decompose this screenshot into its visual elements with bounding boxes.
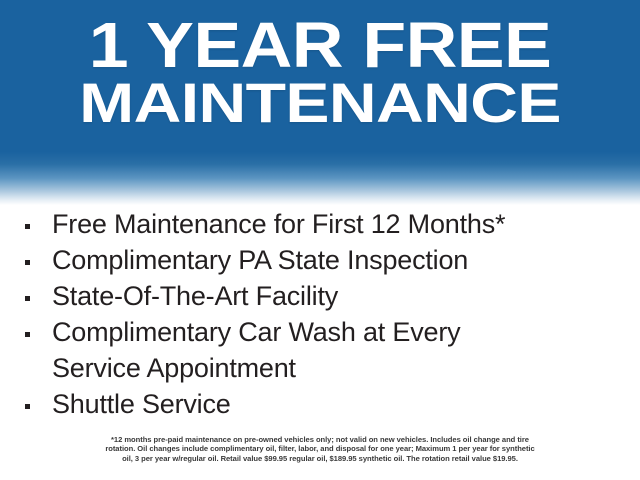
list-item: Free Maintenance for First 12 Months* [0, 206, 640, 242]
list-item-label: Complimentary Car Wash at Every [52, 314, 630, 350]
list-item-label: Complimentary PA State Inspection [52, 242, 630, 278]
maintenance-promo-ad: 1 YEAR FREE MAINTENANCE Free Maintenance… [0, 0, 640, 480]
bullet-square-icon [25, 224, 30, 229]
bullet-square-icon [25, 404, 30, 409]
headline: 1 YEAR FREE MAINTENANCE [0, 0, 640, 128]
list-item-label: Free Maintenance for First 12 Months* [52, 206, 630, 242]
feature-list: Free Maintenance for First 12 Months* Co… [0, 206, 640, 422]
headline-line-2: MAINTENANCE [0, 77, 640, 129]
bullet-square-icon [25, 260, 30, 265]
disclaimer-line-3: oil, 3 per year w/regular oil. Retail va… [45, 454, 595, 463]
headline-line-1: 1 YEAR FREE [0, 16, 640, 75]
bullet-square-icon [25, 332, 30, 337]
list-item: State-Of-The-Art Facility [0, 278, 640, 314]
headline-banner: 1 YEAR FREE MAINTENANCE [0, 0, 640, 205]
disclaimer: *12 months pre-paid maintenance on pre-o… [45, 435, 595, 463]
list-item-label: Shuttle Service [52, 386, 630, 422]
list-item: Complimentary PA State Inspection [0, 242, 640, 278]
bullet-square-icon [25, 296, 30, 301]
list-item: Complimentary Car Wash at Every Service … [0, 314, 640, 386]
disclaimer-line-1: *12 months pre-paid maintenance on pre-o… [45, 435, 595, 444]
list-item-label: State-Of-The-Art Facility [52, 278, 630, 314]
disclaimer-line-2: rotation. Oil changes include compliment… [45, 444, 595, 453]
list-item: Shuttle Service [0, 386, 640, 422]
list-item-label-continuation: Service Appointment [52, 353, 296, 383]
